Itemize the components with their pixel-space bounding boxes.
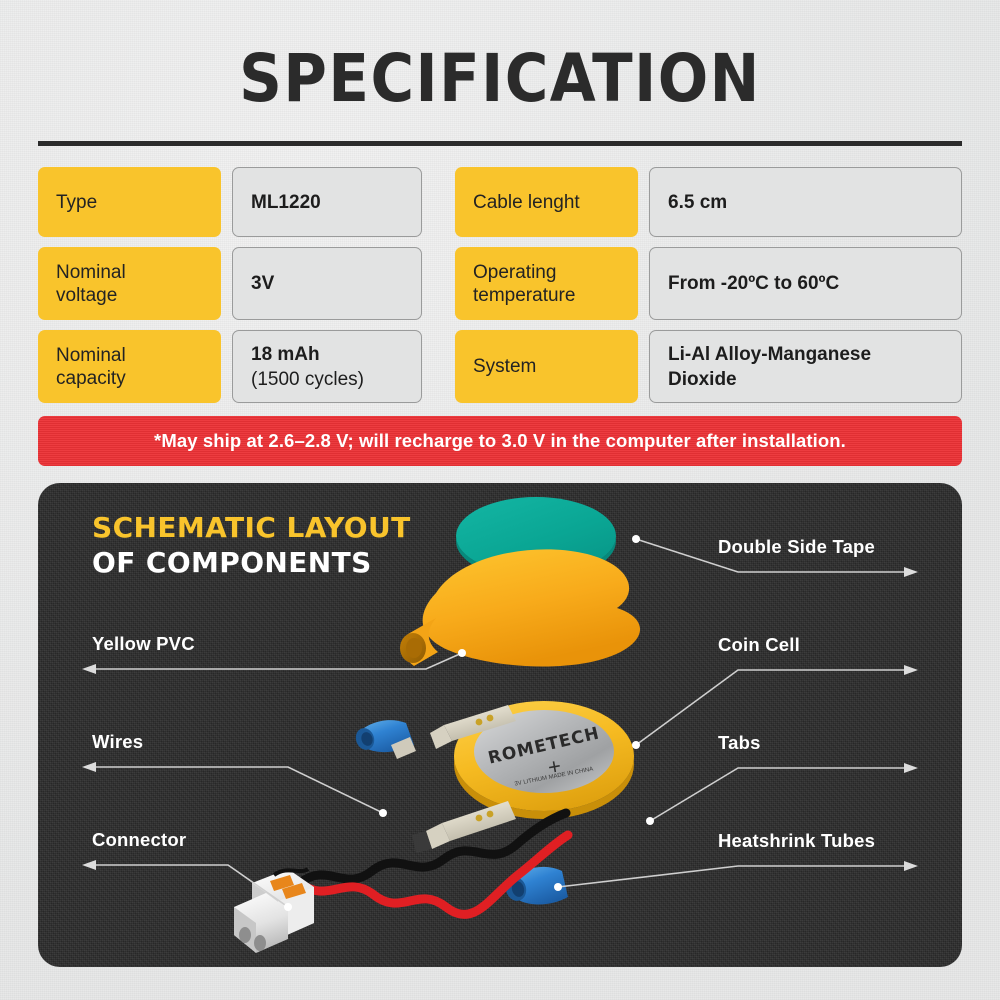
shipping-notice-banner: *May ship at 2.6–2.8 V; will recharge to… (38, 416, 962, 466)
spec-row: Cable lenght 6.5 cm (455, 167, 962, 237)
schematic-panel: SCHEMATIC LAYOUT OF COMPONENTS (38, 483, 962, 967)
spec-label: Operatingtemperature (455, 247, 638, 320)
spec-value: 6.5 cm (649, 167, 962, 237)
spec-value-sub: (1500 cycles) (251, 367, 403, 392)
spec-label: Cable lenght (455, 167, 638, 237)
callout-connector: Connector (92, 829, 186, 851)
spec-row: Nominalcapacity 18 mAh (1500 cycles) (38, 330, 478, 403)
spec-value: 3V (232, 247, 422, 320)
spec-value-main: 18 mAh (251, 342, 403, 367)
spec-label: Nominalvoltage (38, 247, 221, 320)
spec-row: Nominalvoltage 3V (38, 247, 478, 320)
callout-tabs: Tabs (718, 732, 761, 754)
spec-value-main: Li-Al Alloy-Manganese Dioxide (668, 342, 943, 392)
spec-label: Type (38, 167, 221, 237)
callout-wires: Wires (92, 731, 143, 753)
spec-row: Type ML1220 (38, 167, 478, 237)
spec-value: Li-Al Alloy-Manganese Dioxide (649, 330, 962, 403)
callout-coin-cell: Coin Cell (718, 634, 800, 656)
shipping-notice-text: *May ship at 2.6–2.8 V; will recharge to… (154, 430, 846, 452)
callout-yellow-pvc: Yellow PVC (92, 633, 195, 655)
spec-value-main: From -20ºC to 60ºC (668, 271, 943, 296)
spec-value-main: 6.5 cm (668, 190, 943, 215)
spec-value: ML1220 (232, 167, 422, 237)
spec-row: System Li-Al Alloy-Manganese Dioxide (455, 330, 962, 403)
page-title: SPECIFICATION (0, 46, 1000, 112)
callout-heatshrink-tubes: Heatshrink Tubes (718, 830, 875, 852)
spec-label: Nominalcapacity (38, 330, 221, 403)
spec-row: Operatingtemperature From -20ºC to 60ºC (455, 247, 962, 320)
title-divider (38, 141, 962, 146)
spec-value-main: ML1220 (251, 190, 403, 215)
spec-label: System (455, 330, 638, 403)
spec-value: From -20ºC to 60ºC (649, 247, 962, 320)
spec-value-main: 3V (251, 271, 403, 296)
callout-double-side-tape: Double Side Tape (718, 536, 875, 558)
spec-value: 18 mAh (1500 cycles) (232, 330, 422, 403)
